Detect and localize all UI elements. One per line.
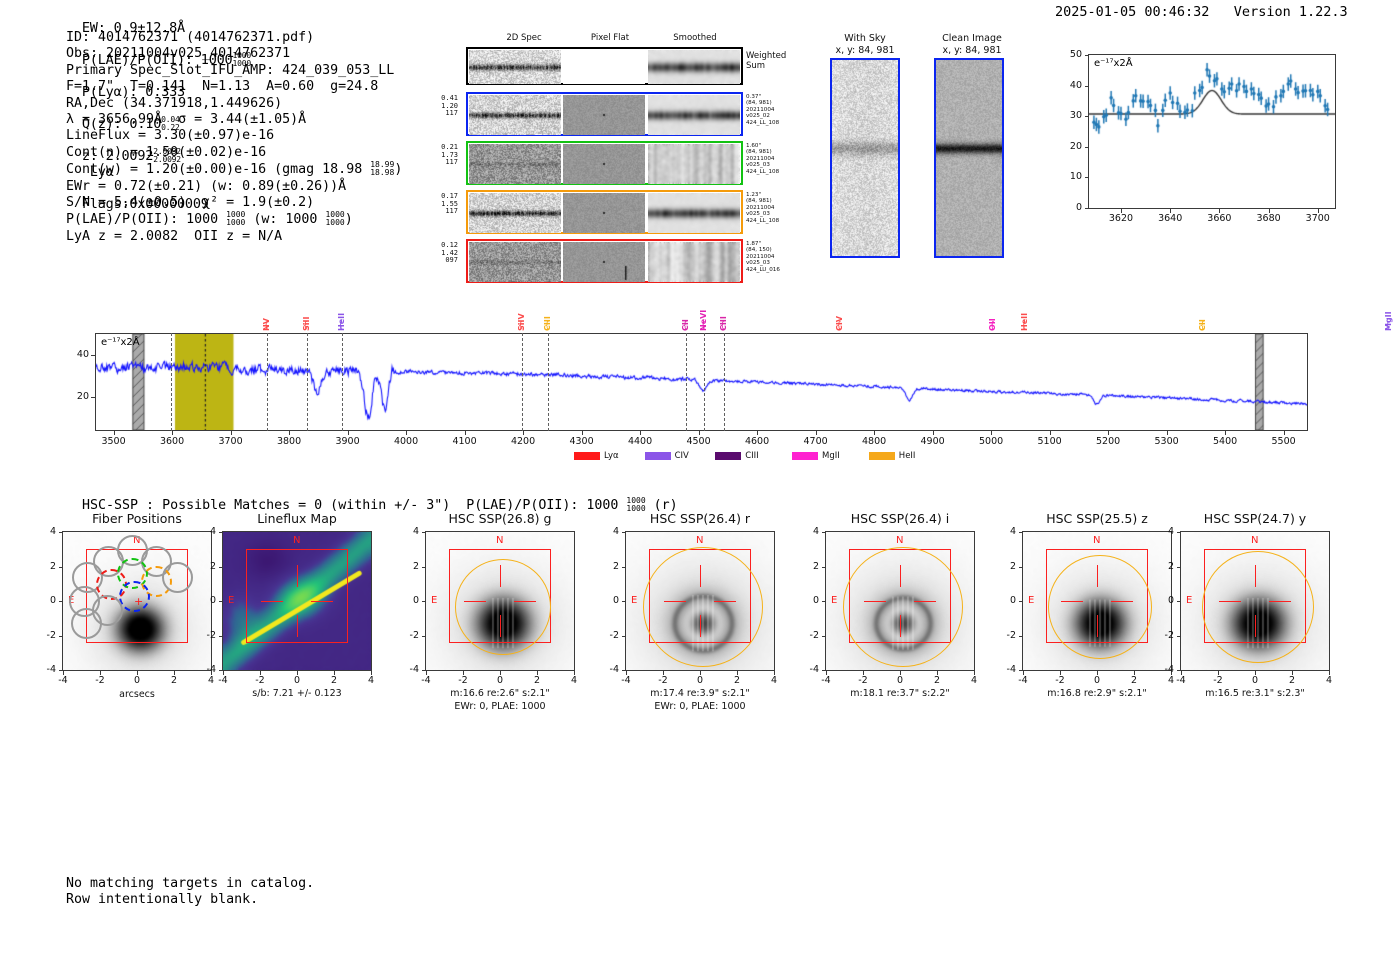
cutout-ytick-label: 2 <box>797 561 819 572</box>
cutout-ytick-label: 0 <box>994 595 1016 606</box>
spectrum-xtick <box>1225 431 1226 435</box>
cutout-xtick-label: -4 <box>211 675 235 686</box>
cutout-xtick-label: 0 <box>688 675 712 686</box>
spectrum-xtick <box>114 431 115 435</box>
cutout-xtick <box>774 671 775 675</box>
fiber-circle <box>92 595 123 626</box>
legend-label: CIV <box>675 451 689 461</box>
cutout-ytick-label: -2 <box>597 630 619 641</box>
cutout-xtick-label: -2 <box>1206 675 1230 686</box>
cutout-ytick-label: -4 <box>994 664 1016 675</box>
cutout-xtick <box>863 671 864 675</box>
cutout-ytick-label: -4 <box>1152 664 1174 675</box>
cutout-xtick <box>63 671 64 675</box>
cutout-ytick <box>822 601 826 602</box>
spectrum-xtick <box>406 431 407 435</box>
cutout-xtick <box>1218 671 1219 675</box>
spectrum-xtick <box>523 431 524 435</box>
cutout-ytick <box>822 532 826 533</box>
cutout-ytick <box>822 636 826 637</box>
spectrum-xtick-label: 4400 <box>618 436 662 447</box>
cutout-ytick <box>1177 670 1181 671</box>
cutout-xtick <box>1255 671 1256 675</box>
cutout-xtick <box>900 671 901 675</box>
spectrum-xtick <box>640 431 641 435</box>
cutout-ytick-label: 0 <box>194 595 216 606</box>
cutout-ytick <box>1019 567 1023 568</box>
cutout-ytick-label: 4 <box>397 526 419 537</box>
cutout-ytick-label: 0 <box>797 595 819 606</box>
spectrum-xtick <box>465 431 466 435</box>
cutout-xtick-label: -4 <box>814 675 838 686</box>
spectrum-ytick-label: 20 <box>61 391 89 402</box>
cutout-ytick <box>219 636 223 637</box>
cutout-ytick-label: 0 <box>1152 595 1174 606</box>
legend-swatch <box>645 452 671 460</box>
cutout-ytick-label: 2 <box>34 561 56 572</box>
emission-line-brace: { <box>1385 321 1391 331</box>
spectrum-xtick-label: 4900 <box>911 436 955 447</box>
cutout-title: HSC SSP(26.4) r <box>595 511 805 526</box>
target-marker: + <box>134 595 143 608</box>
cutout-ytick <box>422 532 426 533</box>
cutout-xtick <box>371 671 372 675</box>
cutout-xtick-label: -2 <box>451 675 475 686</box>
spectrum-xtick <box>1167 431 1168 435</box>
cutout-xtick-label: 0 <box>888 675 912 686</box>
compass-north: N <box>896 535 903 546</box>
spectrum-xtick-label: 4200 <box>501 436 545 447</box>
cutout-xtick <box>700 671 701 675</box>
emission-line-brace: { <box>1199 321 1205 331</box>
cutout-ytick-label: 4 <box>194 526 216 537</box>
legend-label: HeII <box>899 451 916 461</box>
cutout-xtick-label: -2 <box>1048 675 1072 686</box>
crosshair-right <box>311 601 333 602</box>
cutout-xtick-label: -4 <box>1169 675 1193 686</box>
cutout-ytick-label: 4 <box>597 526 619 537</box>
compass-east: E <box>228 595 234 606</box>
compass-north: N <box>1251 535 1258 546</box>
emission-line-brace: { <box>700 321 706 331</box>
cutout-panel-row: Fiber PositionsNE+-4-2024420-2-4arcsecsL… <box>0 505 1400 735</box>
emission-line-marker <box>548 333 549 431</box>
cutout-xtick <box>826 671 827 675</box>
compass-north: N <box>293 535 300 546</box>
cutout-ytick <box>1177 532 1181 533</box>
spectrum-xtick-label: 4800 <box>852 436 896 447</box>
cutout-caption-primary: m:16.6 re:2.6" s:2.1" <box>397 688 603 700</box>
cutout-ytick-label: 0 <box>397 595 419 606</box>
cutout-ytick <box>1177 601 1181 602</box>
spectrum-xtick <box>874 431 875 435</box>
fiber-circle <box>162 562 193 593</box>
cutout-xtick-label: 2 <box>725 675 749 686</box>
cutout-xtick-label: 2 <box>525 675 549 686</box>
compass-east: E <box>431 595 437 606</box>
aperture-circle <box>1048 555 1152 659</box>
cutout-ytick <box>422 636 426 637</box>
cutout-ytick-label: 4 <box>34 526 56 537</box>
emission-line-brace: { <box>338 321 344 331</box>
legend-swatch <box>574 452 600 460</box>
emission-line-marker <box>522 333 523 431</box>
cutout-xtick <box>663 671 664 675</box>
legend-swatch <box>792 452 818 460</box>
cutout-xtick-label: 4 <box>359 675 383 686</box>
cutout-ytick <box>422 567 426 568</box>
spectrum-xtick-label: 4300 <box>560 436 604 447</box>
spectrum-ytick <box>91 355 95 356</box>
spectrum-xtick <box>1050 431 1051 435</box>
cutout-ytick <box>219 670 223 671</box>
compass-north: N <box>496 535 503 546</box>
cutout-caption-primary: s/b: 7.21 +/- 0.123 <box>194 688 400 700</box>
legend-label: MgII <box>822 451 840 461</box>
cutout-xtick-label: 0 <box>1085 675 1109 686</box>
cutout-ytick-label: -2 <box>194 630 216 641</box>
cutout-ytick <box>422 670 426 671</box>
cutout-xtick <box>100 671 101 675</box>
compass-east: E <box>1028 595 1034 606</box>
spectrum-xtick-label: 4700 <box>794 436 838 447</box>
cutout-ytick-label: 2 <box>1152 561 1174 572</box>
crosshair-left <box>261 601 283 602</box>
spectrum-xtick-label: 5000 <box>969 436 1013 447</box>
cutout-xtick-label: 0 <box>285 675 309 686</box>
cutout-caption-secondary: EWr: 0, PLAE: 1000 <box>597 701 803 713</box>
cutout-xtick <box>1329 671 1330 675</box>
emission-line-brace: { <box>263 321 269 331</box>
cutout-ytick <box>1019 532 1023 533</box>
spectrum-xtick-label: 5400 <box>1203 436 1247 447</box>
cutout-ytick-label: 4 <box>797 526 819 537</box>
aperture-circle <box>843 547 963 667</box>
cutout-xtick-label: -2 <box>651 675 675 686</box>
cutout-xtick <box>174 671 175 675</box>
cutout-ytick <box>822 670 826 671</box>
aperture-circle <box>643 547 763 667</box>
cutout-ytick <box>622 532 626 533</box>
cutout-xtick-label: -2 <box>88 675 112 686</box>
spectrum-xtick <box>991 431 992 435</box>
cutout-xtick-label: 4 <box>762 675 786 686</box>
cutout-ytick-label: 0 <box>597 595 619 606</box>
cutout-xtick-label: -2 <box>851 675 875 686</box>
cutout-xtick <box>1292 671 1293 675</box>
emission-line-brace: { <box>518 321 524 331</box>
cutout-xtick <box>1097 671 1098 675</box>
spectrum-xtick-label: 3900 <box>326 436 370 447</box>
compass-north: N <box>1093 535 1100 546</box>
emission-line-brace: { <box>544 321 550 331</box>
cutout-ytick <box>219 567 223 568</box>
cutout-ytick-label: -2 <box>797 630 819 641</box>
spectrum-ytick-label: 40 <box>61 349 89 360</box>
emission-line-brace: { <box>720 321 726 331</box>
cutout-xtick <box>1023 671 1024 675</box>
spectrum-xtick <box>933 431 934 435</box>
cutout-ytick-label: -2 <box>397 630 419 641</box>
emission-line-brace: { <box>836 321 842 331</box>
cutout-ytick <box>1177 567 1181 568</box>
cutout-ytick-label: 2 <box>397 561 419 572</box>
cutout-xtick-label: 0 <box>125 675 149 686</box>
cutout-caption-primary: m:17.4 re:3.9" s:2.1" <box>597 688 803 700</box>
cutout-xtick-label: -4 <box>414 675 438 686</box>
wavelength-marker <box>171 333 172 431</box>
spectrum-xtick-label: 3600 <box>150 436 194 447</box>
cutout-xtick-label: 4 <box>1317 675 1341 686</box>
cutout-ytick-label: -2 <box>1152 630 1174 641</box>
emission-line-marker <box>686 333 687 431</box>
cutout-title: HSC SSP(26.4) i <box>795 511 1005 526</box>
spectrum-xtick <box>1284 431 1285 435</box>
legend-swatch <box>715 452 741 460</box>
cutout-ytick-label: -4 <box>797 664 819 675</box>
cutout-ytick-label: -4 <box>397 664 419 675</box>
cutout-xtick <box>574 671 575 675</box>
cutout-xtick-label: -4 <box>614 675 638 686</box>
cutout-ytick <box>59 532 63 533</box>
cutout-xtick-label: -2 <box>248 675 272 686</box>
legend-label: CIII <box>745 451 758 461</box>
spectrum-xtick-label: 4000 <box>384 436 428 447</box>
cutout-ytick <box>622 670 626 671</box>
cutout-xtick-label: 2 <box>1122 675 1146 686</box>
cutout-xtick <box>334 671 335 675</box>
spectrum-xtick <box>816 431 817 435</box>
cutout-xtick <box>137 671 138 675</box>
cutout-ytick-label: 2 <box>194 561 216 572</box>
cutout-ytick <box>422 601 426 602</box>
spectrum-xtick-label: 5200 <box>1086 436 1130 447</box>
cutout-ytick <box>822 567 826 568</box>
cutout-xtick <box>426 671 427 675</box>
spectrum-xtick <box>1108 431 1109 435</box>
spectrum-xtick-label: 3800 <box>267 436 311 447</box>
emission-line-marker <box>342 333 343 431</box>
compass-east: E <box>831 595 837 606</box>
cutout-xtick <box>626 671 627 675</box>
spectrum-xtick-label: 4500 <box>677 436 721 447</box>
spectrum-xtick-label: 5300 <box>1145 436 1189 447</box>
cutout-ytick <box>59 601 63 602</box>
cutout-ytick <box>622 601 626 602</box>
spectrum-xtick-label: 3500 <box>92 436 136 447</box>
spectrum-xtick <box>757 431 758 435</box>
cutout-title: Lineflux Map <box>192 511 402 526</box>
cutout-xtick-label: -4 <box>1011 675 1035 686</box>
spectrum-xtick <box>289 431 290 435</box>
spectrum-axes <box>95 333 1308 431</box>
full-spectrum-plot: e⁻¹⁷x2Å 35003600370038003900400041004200… <box>0 0 1400 480</box>
emission-line-marker <box>307 333 308 431</box>
cutout-ytick <box>59 636 63 637</box>
spectrum-ytick <box>91 397 95 398</box>
cutout-title: HSC SSP(24.7) y <box>1150 511 1360 526</box>
legend-label: Lyα <box>604 451 619 461</box>
cutout-ytick <box>622 567 626 568</box>
cutout-ytick-label: -4 <box>194 664 216 675</box>
cutout-xtick <box>223 671 224 675</box>
cutout-xtick-label: 0 <box>488 675 512 686</box>
cutout-ytick-label: -2 <box>34 630 56 641</box>
cutout-ytick <box>219 601 223 602</box>
emission-line-marker <box>704 333 705 431</box>
cutout-ytick <box>1177 636 1181 637</box>
cutout-ytick <box>1019 601 1023 602</box>
cutout-ytick-label: -4 <box>34 664 56 675</box>
aperture-circle <box>455 559 551 655</box>
spectrum-xtick <box>172 431 173 435</box>
footer-line-1: No matching targets in catalog. <box>66 876 314 892</box>
emission-line-marker <box>267 333 268 431</box>
cutout-caption-secondary: EWr: 0, PLAE: 1000 <box>397 701 603 713</box>
cutout-xtick-label: 2 <box>322 675 346 686</box>
cutout-ytick <box>622 636 626 637</box>
cutout-xtick <box>260 671 261 675</box>
cutout-xtick <box>937 671 938 675</box>
crosshair-bottom <box>297 615 298 637</box>
cutout-ytick-label: 0 <box>34 595 56 606</box>
spectrum-xtick-label: 5500 <box>1262 436 1306 447</box>
spectrum-xtick-label: 3700 <box>209 436 253 447</box>
footer-note: No matching targets in catalog. Row inte… <box>66 876 314 909</box>
cutout-xtick <box>1181 671 1182 675</box>
spectrum-xtick-label: 4600 <box>735 436 779 447</box>
cutout-xtick <box>500 671 501 675</box>
cutout-xtick-label: 0 <box>1243 675 1267 686</box>
cutout-xtick-label: 2 <box>1280 675 1304 686</box>
cutout-ytick-label: 2 <box>994 561 1016 572</box>
spectrum-xtick-label: 5100 <box>1028 436 1072 447</box>
compass-east: E <box>631 595 637 606</box>
cutout-xtick <box>974 671 975 675</box>
cutout-ytick <box>1019 670 1023 671</box>
cutout-caption-primary: m:18.1 re:3.7" s:2.2" <box>797 688 1003 700</box>
aperture-circle <box>1202 551 1314 663</box>
cutout-xtick <box>463 671 464 675</box>
emission-line-brace: { <box>303 321 309 331</box>
crosshair-top <box>297 565 298 587</box>
cutout-ytick <box>1019 636 1023 637</box>
cutout-xtick-label: -4 <box>51 675 75 686</box>
cutout-xtick-label: 2 <box>925 675 949 686</box>
emission-line-brace: { <box>1021 321 1027 331</box>
spectrum-xtick <box>699 431 700 435</box>
cutout-ytick-label: -2 <box>994 630 1016 641</box>
cutout-xtick <box>737 671 738 675</box>
cutout-xtick-label: 2 <box>162 675 186 686</box>
emission-line-brace: { <box>682 321 688 331</box>
spectrum-units: e⁻¹⁷x2Å <box>101 337 140 348</box>
cutout-xtick <box>297 671 298 675</box>
cutout-ytick-label: 4 <box>994 526 1016 537</box>
spectrum-xtick-label: 4100 <box>443 436 487 447</box>
compass-north: N <box>696 535 703 546</box>
cutout-xtick-label: 4 <box>962 675 986 686</box>
emission-line-marker <box>724 333 725 431</box>
cutout-ytick-label: -4 <box>597 664 619 675</box>
cutout-xtick-label: 4 <box>562 675 586 686</box>
spectrum-xtick <box>231 431 232 435</box>
cutout-xtick <box>537 671 538 675</box>
cutout-ytick-label: 4 <box>1152 526 1174 537</box>
cutout-ytick <box>59 567 63 568</box>
spectrum-xtick <box>348 431 349 435</box>
cutout-xtick <box>1134 671 1135 675</box>
compass-east: E <box>1186 595 1192 606</box>
emission-line-brace: { <box>989 321 995 331</box>
cutout-caption-primary: m:16.5 re:3.1" s:2.3" <box>1152 688 1358 700</box>
cutout-ytick-label: 2 <box>597 561 619 572</box>
cutout-title: HSC SSP(26.8) g <box>395 511 605 526</box>
cutout-ytick <box>59 670 63 671</box>
footer-line-2: Row intentionally blank. <box>66 892 314 908</box>
cutout-xtick <box>1060 671 1061 675</box>
legend-swatch <box>869 452 895 460</box>
spectrum-xtick <box>582 431 583 435</box>
cutout-ytick <box>219 532 223 533</box>
